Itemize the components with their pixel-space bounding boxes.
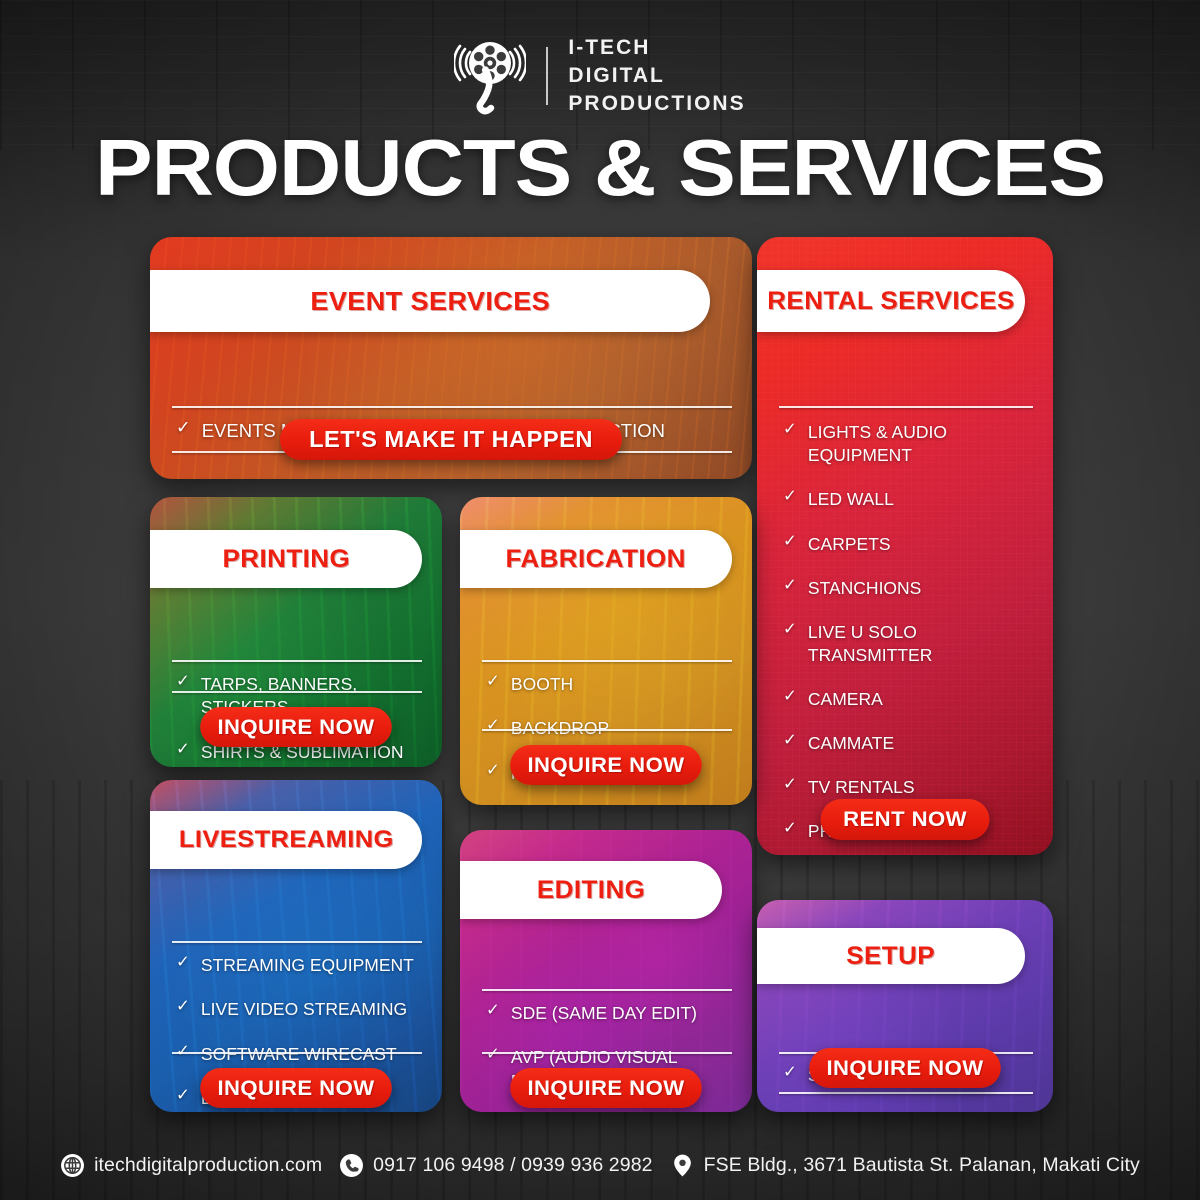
divider-top [482,989,732,991]
check-icon: ✓ [783,488,797,505]
card-content: PRINTING✓TARPS, BANNERS, STICKERS✓SHIRTS… [150,497,442,767]
check-icon: ✓ [783,1064,797,1081]
list-item: ✓STREAMING EQUIPMENT [176,954,428,977]
service-card-printing: PRINTING✓TARPS, BANNERS, STICKERS✓SHIRTS… [150,497,442,767]
divider-top [172,406,732,408]
list-item-label: LIGHTS & AUDIO EQUIPMENT [808,421,1039,468]
list-item: ✓LIGHTS & AUDIO EQUIPMENT [783,421,1039,468]
cta-button-setup[interactable]: INQUIRE NOW [809,1048,1001,1088]
list-item: ✓CARPETS [783,533,1039,556]
check-icon: ✓ [486,762,500,779]
card-title: FABRICATION [506,545,686,574]
service-card-fabrication: FABRICATION✓BOOTH✓BACKDROP✓PHOTOWALLINQU… [460,497,752,805]
footer-address-text: FSE Bldg., 3671 Bautista St. Palanan, Ma… [704,1154,1140,1177]
check-icon: ✓ [486,673,500,690]
list-item: ✓SOFTWARE WIRECAST [176,1043,428,1066]
list-item-label: SDE (SAME DAY EDIT) [511,1002,697,1025]
check-icon: ✓ [176,741,190,758]
card-content: SETUP✓STAGE AND TRUSSESINQUIRE NOW [757,900,1053,1112]
check-icon: ✓ [783,421,797,438]
card-title: EVENT SERVICES [310,286,550,317]
cta-button-rental-services[interactable]: RENT NOW [821,799,990,840]
cta-button-editing[interactable]: INQUIRE NOW [510,1068,702,1108]
check-icon: ✓ [486,1046,500,1063]
brand-name-line-2: DIGITAL [568,62,745,90]
footer-contact-bar: itechdigitalproduction.com 0917 106 9498… [0,1153,1200,1178]
list-item-label: CARPETS [808,533,891,556]
service-card-editing: EDITING✓SDE (SAME DAY EDIT)✓AVP (AUDIO V… [460,830,752,1112]
service-card-setup: SETUP✓STAGE AND TRUSSESINQUIRE NOW [757,900,1053,1112]
service-item-list: ✓LIGHTS & AUDIO EQUIPMENT✓LED WALL✓CARPE… [783,421,1039,855]
check-icon: ✓ [176,998,190,1015]
page-title: PRODUCTS & SERVICES [0,128,1200,208]
divider-bottom [172,1052,422,1054]
card-title: EDITING [537,876,645,905]
brand-header: I-TECH DIGITAL PRODUCTIONS [0,34,1200,118]
brand-name-line-1: I-TECH [568,34,745,62]
check-icon: ✓ [486,1002,500,1019]
check-icon: ✓ [176,1087,190,1104]
service-card-livestreaming: LIVESTREAMING✓STREAMING EQUIPMENT✓LIVE V… [150,780,442,1112]
list-item-label: LIVE U SOLO TRANSMITTER [808,621,1039,668]
divider-bottom [482,1052,732,1054]
cta-button-livestreaming[interactable]: INQUIRE NOW [200,1068,392,1108]
check-icon: ✓ [486,717,500,734]
divider-bottom [482,729,732,731]
divider-top [172,660,422,662]
service-card-rental-services: RENTAL SERVICES✓LIGHTS & AUDIO EQUIPMENT… [757,237,1053,855]
check-icon: ✓ [783,533,797,550]
list-item: ✓STANCHIONS [783,577,1039,600]
check-icon: ✓ [783,577,797,594]
card-content: EVENT SERVICES✓EVENTS MANAGEMENT AND EVE… [150,237,752,479]
footer-phone-text: 0917 106 9498 / 0939 936 2982 [373,1154,652,1177]
phone-icon [339,1153,364,1178]
check-icon: ✓ [783,621,797,638]
check-icon: ✓ [176,954,190,971]
list-item-label: LED WALL [808,488,894,511]
card-title: PRINTING [222,545,350,574]
card-content: FABRICATION✓BOOTH✓BACKDROP✓PHOTOWALLINQU… [460,497,752,805]
list-item-label: STANCHIONS [808,577,921,600]
list-item-label: TV RENTALS [808,776,915,799]
card-header-editing: EDITING [460,861,722,919]
list-item-label: CAMERA [808,688,883,711]
list-item: ✓SDE (SAME DAY EDIT) [486,1002,738,1025]
card-header-fabrication: FABRICATION [460,530,732,588]
check-icon: ✓ [783,732,797,749]
list-item: ✓BOOTH [486,673,738,696]
card-content: LIVESTREAMING✓STREAMING EQUIPMENT✓LIVE V… [150,780,442,1112]
check-icon: ✓ [783,820,797,837]
poster-canvas: I-TECH DIGITAL PRODUCTIONS PRODUCTS & SE… [0,0,1200,1200]
list-item-label: STREAMING EQUIPMENT [201,954,414,977]
list-item: ✓LIVE VIDEO STREAMING [176,998,428,1021]
card-title: SETUP [847,942,936,971]
footer-phone[interactable]: 0917 106 9498 / 0939 936 2982 [339,1153,652,1178]
list-item-label: BOOTH [511,673,573,696]
card-header-event-services: EVENT SERVICES [150,270,710,332]
list-item: ✓CAMMATE [783,732,1039,755]
location-pin-icon [670,1153,695,1178]
service-card-event-services: EVENT SERVICES✓EVENTS MANAGEMENT AND EVE… [150,237,752,479]
brand-name-line-3: PRODUCTIONS [568,90,745,118]
footer-website-text: itechdigitalproduction.com [94,1154,322,1177]
list-item: ✓LIVE U SOLO TRANSMITTER [783,621,1039,668]
cta-button-event-services[interactable]: LET'S MAKE IT HAPPEN [280,419,622,460]
divider-top [172,941,422,943]
check-icon: ✓ [783,688,797,705]
list-item-label: SOFTWARE WIRECAST [201,1043,397,1066]
card-title: LIVESTREAMING [179,826,394,854]
list-item: ✓CAMERA [783,688,1039,711]
list-item: ✓LED WALL [783,488,1039,511]
cta-button-fabrication[interactable]: INQUIRE NOW [510,745,702,785]
card-header-livestreaming: LIVESTREAMING [150,811,422,869]
card-content: EDITING✓SDE (SAME DAY EDIT)✓AVP (AUDIO V… [460,830,752,1112]
brand-name: I-TECH DIGITAL PRODUCTIONS [568,34,745,118]
check-icon: ✓ [783,776,797,793]
card-header-setup: SETUP [757,928,1025,984]
footer-address[interactable]: FSE Bldg., 3671 Bautista St. Palanan, Ma… [670,1153,1140,1178]
divider-bottom [172,691,422,693]
card-header-rental-services: RENTAL SERVICES [757,270,1025,332]
logo-divider [546,47,548,105]
divider-bottom [779,1092,1033,1094]
footer-website[interactable]: itechdigitalproduction.com [60,1153,322,1178]
check-icon: ✓ [176,419,191,437]
card-header-printing: PRINTING [150,530,422,588]
list-item-label: LIVE VIDEO STREAMING [201,998,407,1021]
divider-top [779,406,1033,408]
check-icon: ✓ [176,673,190,690]
card-title: RENTAL SERVICES [767,287,1015,316]
list-item-label: CAMMATE [808,732,894,755]
card-content: RENTAL SERVICES✓LIGHTS & AUDIO EQUIPMENT… [757,237,1053,855]
divider-top [482,660,732,662]
globe-icon [60,1153,85,1178]
film-reel-waves-logo-icon [454,37,526,115]
list-item: ✓TV RENTALS [783,776,1039,799]
cta-button-printing[interactable]: INQUIRE NOW [200,707,392,747]
